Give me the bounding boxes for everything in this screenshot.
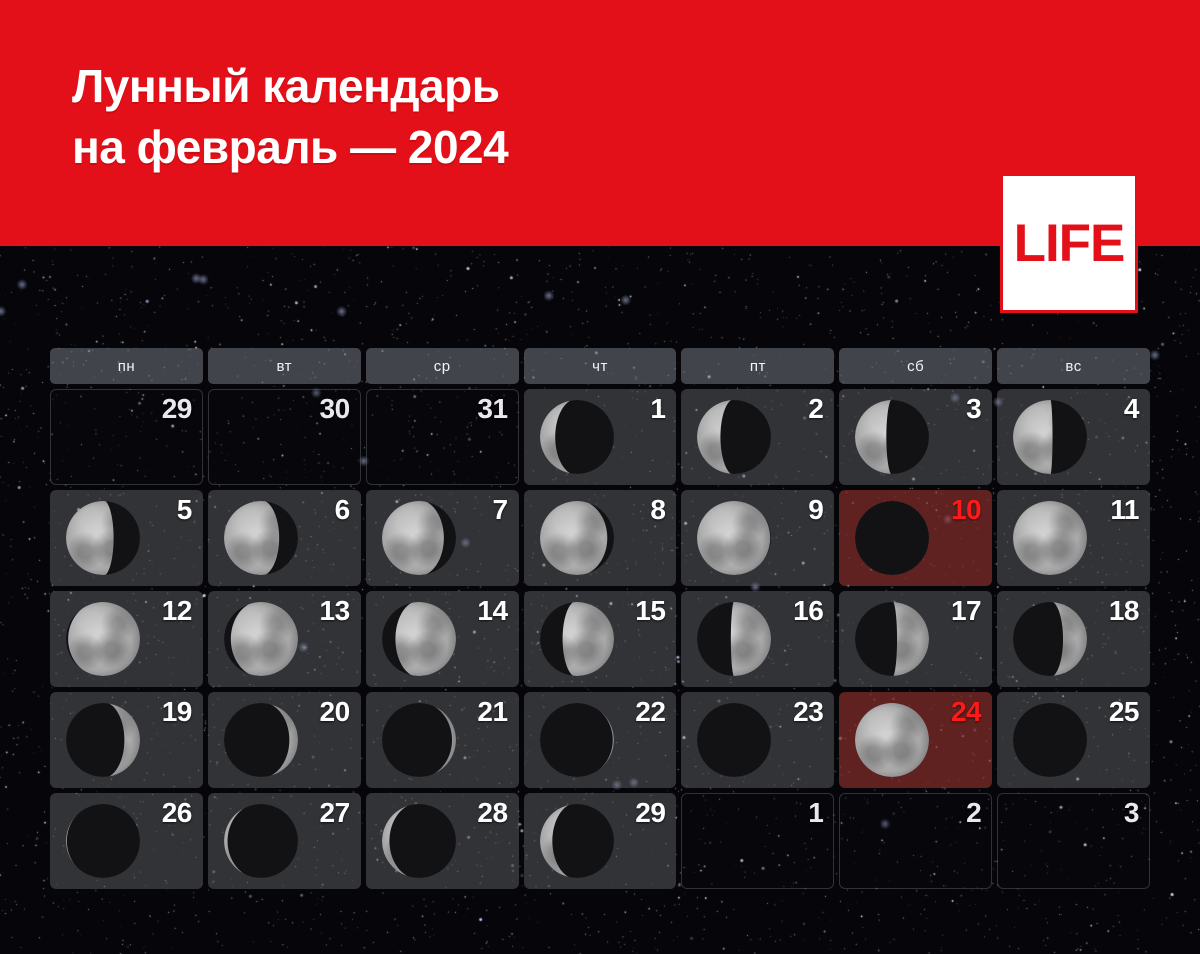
- day-number: 15: [635, 597, 665, 625]
- moon-phase-icon: [697, 501, 771, 575]
- moon-phase-icon: [855, 602, 929, 676]
- moon-phase-icon: [1013, 400, 1087, 474]
- calendar-cell-day-28[interactable]: 28: [366, 793, 519, 889]
- day-number: 10: [951, 496, 981, 524]
- day-number: 14: [477, 597, 507, 625]
- day-number: 8: [650, 496, 665, 524]
- day-number: 17: [951, 597, 981, 625]
- moon-phase-icon: [855, 703, 929, 777]
- calendar-cell-outside[interactable]: 3: [997, 793, 1150, 889]
- day-number: 27: [320, 799, 350, 827]
- calendar-cell-outside[interactable]: 31: [366, 389, 519, 485]
- day-number: 31: [477, 395, 507, 423]
- life-logo[interactable]: LIFE: [1003, 176, 1135, 310]
- moon-shadow: [540, 703, 614, 777]
- calendar-cell-day-4[interactable]: 4: [997, 389, 1150, 485]
- moon-shadow: [66, 804, 140, 878]
- moon-phase-icon: [66, 703, 140, 777]
- calendar-cell-outside[interactable]: 30: [208, 389, 361, 485]
- weekday-header-пт: пт: [681, 348, 834, 384]
- calendar-cell-day-5[interactable]: 5: [50, 490, 203, 586]
- calendar-cell-day-29[interactable]: 29: [524, 793, 677, 889]
- moon-phase-icon: [697, 703, 771, 777]
- calendar-cell-day-8[interactable]: 8: [524, 490, 677, 586]
- calendar-cell-day-23[interactable]: 23: [681, 692, 834, 788]
- day-number: 22: [635, 698, 665, 726]
- day-number: 2: [966, 799, 981, 827]
- day-number: 19: [162, 698, 192, 726]
- calendar-cell-day-13[interactable]: 13: [208, 591, 361, 687]
- day-number: 1: [650, 395, 665, 423]
- day-number: 3: [1124, 799, 1139, 827]
- calendar-cell-day-14[interactable]: 14: [366, 591, 519, 687]
- calendar-cell-outside[interactable]: 2: [839, 793, 992, 889]
- calendar-cell-day-25[interactable]: 25: [997, 692, 1150, 788]
- calendar-cell-day-1[interactable]: 1: [524, 389, 677, 485]
- day-number: 21: [477, 698, 507, 726]
- moon-phase-icon: [540, 804, 614, 878]
- day-number: 6: [335, 496, 350, 524]
- calendar-cell-day-6[interactable]: 6: [208, 490, 361, 586]
- moon-phase-icon: [382, 501, 456, 575]
- calendar-cell-day-20[interactable]: 20: [208, 692, 361, 788]
- day-number: 1: [808, 799, 823, 827]
- moon-phase-icon: [382, 804, 456, 878]
- moon-phase-icon: [1013, 602, 1087, 676]
- calendar-cell-day-7[interactable]: 7: [366, 490, 519, 586]
- calendar-cell-day-24[interactable]: 24: [839, 692, 992, 788]
- calendar-cell-day-22[interactable]: 22: [524, 692, 677, 788]
- day-number: 2: [808, 395, 823, 423]
- day-number: 9: [808, 496, 823, 524]
- day-number: 5: [177, 496, 192, 524]
- moon-phase-icon: [540, 400, 614, 474]
- moon-phase-icon: [697, 400, 771, 474]
- day-number: 29: [162, 395, 192, 423]
- moon-phase-icon: [1013, 703, 1087, 777]
- calendar-cell-day-21[interactable]: 21: [366, 692, 519, 788]
- day-number: 18: [1109, 597, 1139, 625]
- day-number: 20: [320, 698, 350, 726]
- day-number: 7: [492, 496, 507, 524]
- moon-phase-icon: [66, 501, 140, 575]
- moon-phase-icon: [224, 501, 298, 575]
- page-title: Лунный календарь на февраль — 2024: [72, 56, 508, 178]
- weekday-header-ср: ср: [366, 348, 519, 384]
- day-number: 11: [1110, 496, 1139, 524]
- moon-phase-icon: [540, 703, 614, 777]
- day-number: 26: [162, 799, 192, 827]
- calendar-cell-outside[interactable]: 29: [50, 389, 203, 485]
- moon-phase-icon: [540, 602, 614, 676]
- moon-phase-icon: [224, 804, 298, 878]
- moon-disc: [855, 703, 929, 777]
- moon-phase-icon: [855, 501, 929, 575]
- day-number: 4: [1124, 395, 1139, 423]
- moon-disc: [1013, 501, 1087, 575]
- weekday-header-вс: вс: [997, 348, 1150, 384]
- calendar-cell-outside[interactable]: 1: [681, 793, 834, 889]
- moon-phase-icon: [224, 703, 298, 777]
- day-number: 30: [320, 395, 350, 423]
- moon-phase-icon: [382, 703, 456, 777]
- calendar-cell-day-17[interactable]: 17: [839, 591, 992, 687]
- life-logo-text: LIFE: [1014, 217, 1125, 270]
- weekday-header-чт: чт: [524, 348, 677, 384]
- day-number: 24: [951, 698, 981, 726]
- calendar-cell-day-10[interactable]: 10: [839, 490, 992, 586]
- calendar-cell-day-9[interactable]: 9: [681, 490, 834, 586]
- calendar-cell-day-2[interactable]: 2: [681, 389, 834, 485]
- moon-phase-icon: [855, 400, 929, 474]
- day-number: 3: [966, 395, 981, 423]
- weekday-header-вт: вт: [208, 348, 361, 384]
- moon-phase-icon: [66, 804, 140, 878]
- calendar-cell-day-19[interactable]: 19: [50, 692, 203, 788]
- moon-disc: [697, 501, 771, 575]
- moon-phase-icon: [382, 602, 456, 676]
- calendar-cell-day-26[interactable]: 26: [50, 793, 203, 889]
- calendar-cell-day-15[interactable]: 15: [524, 591, 677, 687]
- calendar-cell-day-18[interactable]: 18: [997, 591, 1150, 687]
- moon-phase-icon: [697, 602, 771, 676]
- day-number: 25: [1109, 698, 1139, 726]
- calendar-cell-day-12[interactable]: 12: [50, 591, 203, 687]
- calendar-cell-day-16[interactable]: 16: [681, 591, 834, 687]
- calendar-cell-day-3[interactable]: 3: [839, 389, 992, 485]
- weekday-header-сб: сб: [839, 348, 992, 384]
- day-number: 28: [477, 799, 507, 827]
- day-number: 13: [320, 597, 350, 625]
- weekday-header-пн: пн: [50, 348, 203, 384]
- calendar-cell-day-27[interactable]: 27: [208, 793, 361, 889]
- day-number: 29: [635, 799, 665, 827]
- moon-shadow: [1013, 703, 1087, 777]
- moon-shadow: [855, 501, 929, 575]
- moon-shadow: [697, 703, 771, 777]
- day-number: 12: [162, 597, 192, 625]
- calendar-cell-day-11[interactable]: 11: [997, 490, 1150, 586]
- calendar-grid: пнвтсрчтптсбвс29303112345678910111213141…: [50, 348, 1150, 889]
- moon-phase-icon: [540, 501, 614, 575]
- moon-phase-icon: [66, 602, 140, 676]
- moon-phase-icon: [1013, 501, 1087, 575]
- moon-phase-icon: [224, 602, 298, 676]
- day-number: 23: [793, 698, 823, 726]
- day-number: 16: [793, 597, 823, 625]
